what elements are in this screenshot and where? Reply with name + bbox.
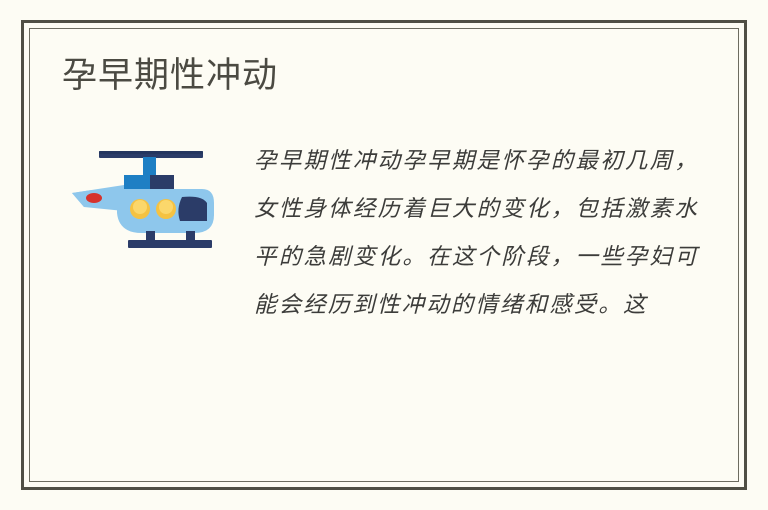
document-content: 孕早期性冲动 (29, 28, 739, 482)
text-column: 孕早期性冲动孕早期是怀孕的最初几周，女性身体经历着巨大的变化，包括激素水平的急剧… (240, 137, 707, 329)
page-title: 孕早期性冲动 (62, 56, 707, 96)
document-page: 孕早期性冲动 (0, 0, 768, 510)
article-body: 孕早期性冲动孕早期是怀孕的最初几周，女性身体经历着巨大的变化，包括激素水平的急剧… (62, 137, 707, 329)
article-paragraph: 孕早期性冲动孕早期是怀孕的最初几周，女性身体经历着巨大的变化，包括激素水平的急剧… (254, 137, 699, 329)
illustration-column (62, 137, 240, 251)
helicopter-icon (62, 141, 240, 251)
